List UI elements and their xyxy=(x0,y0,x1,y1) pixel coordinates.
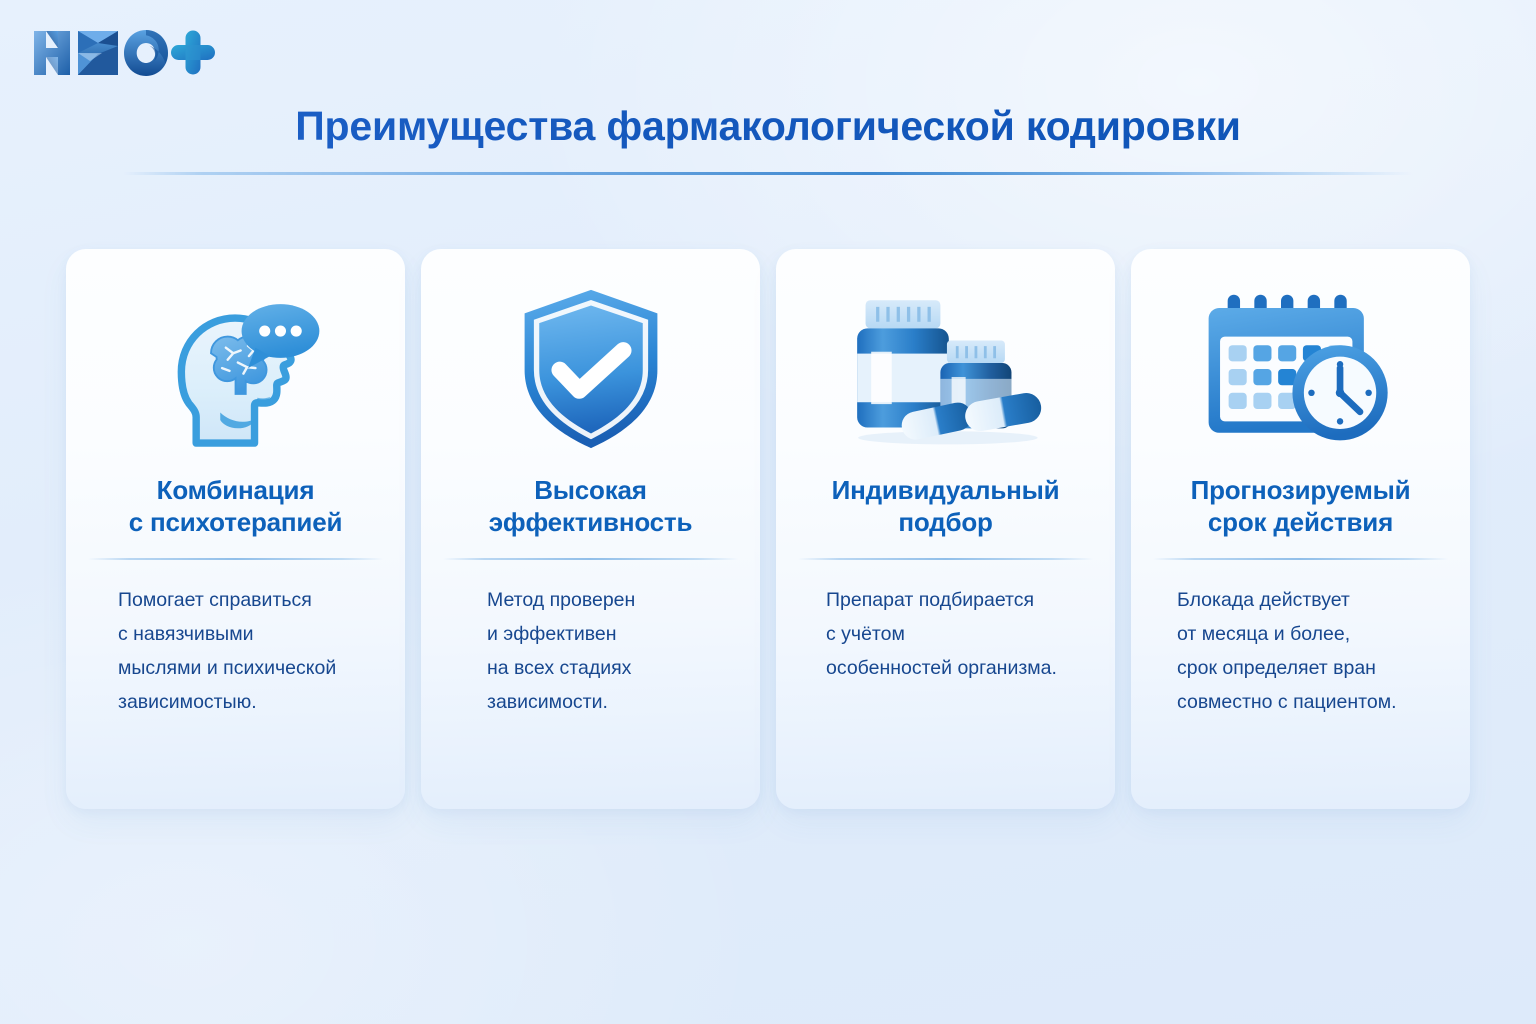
benefit-card-predictable-duration[interactable]: Прогнозируемый срок действия Блокада дей… xyxy=(1131,249,1470,809)
benefits-card-row: Комбинация с психотерапией Помогает спра… xyxy=(66,249,1470,809)
card-divider xyxy=(798,558,1093,560)
card-heading: Комбинация с психотерапией xyxy=(88,475,383,538)
logo-letter-n xyxy=(34,31,70,75)
benefit-card-individual-selection[interactable]: Индивидуальный подбор Препарат подбирает… xyxy=(776,249,1115,809)
clock-face xyxy=(1292,345,1387,440)
card-body-text: Препарат подбирается с учётом особенност… xyxy=(798,584,1093,686)
card-divider xyxy=(88,558,383,560)
card-divider xyxy=(1153,558,1448,560)
card-body-text: Метод проверен и эффективен на всех стад… xyxy=(443,584,738,720)
pill-bottles-capsules-icon xyxy=(798,285,1093,453)
benefit-card-combination-psychotherapy[interactable]: Комбинация с психотерапией Помогает спра… xyxy=(66,249,405,809)
brand-logo xyxy=(18,18,218,80)
card-heading: Высокая эффективность xyxy=(443,475,738,538)
card-divider xyxy=(443,558,738,560)
shield-checkmark-icon xyxy=(443,285,738,453)
card-body-text: Блокада действует от месяца и более, сро… xyxy=(1153,584,1448,720)
calendar-clock-icon xyxy=(1153,285,1448,453)
card-body-text: Помогает справиться с навязчивыми мыслям… xyxy=(88,584,383,720)
logo-letter-o xyxy=(124,30,168,76)
title-underline-rule xyxy=(123,172,1413,175)
head-brain-speech-bubble-icon xyxy=(88,285,383,453)
card-heading: Индивидуальный подбор xyxy=(798,475,1093,538)
title-block: Преимущества фармакологической кодировки xyxy=(0,104,1536,175)
card-heading: Прогнозируемый срок действия xyxy=(1153,475,1448,538)
page-title: Преимущества фармакологической кодировки xyxy=(0,104,1536,150)
logo-plus-icon xyxy=(171,31,215,75)
benefit-card-high-effectiveness[interactable]: Высокая эффективность Метод проверен и э… xyxy=(421,249,760,809)
logo-letter-e xyxy=(78,31,118,75)
